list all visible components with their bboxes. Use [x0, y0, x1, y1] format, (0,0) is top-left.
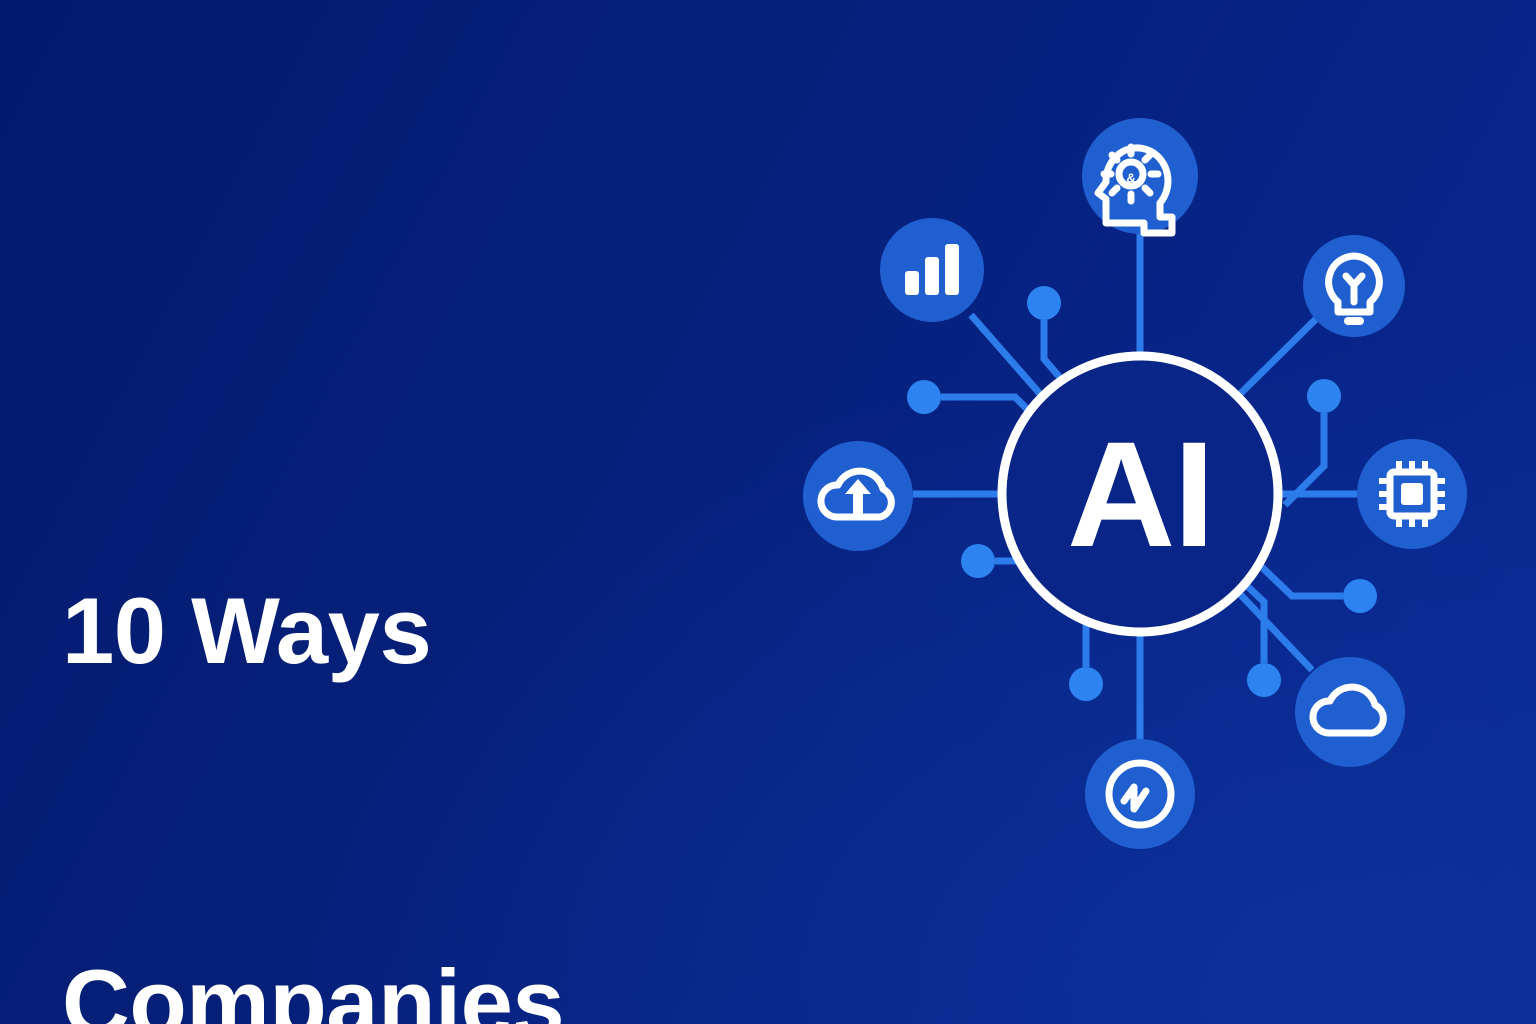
node-bar-chart[interactable]	[880, 218, 984, 322]
connector-dot	[1343, 579, 1377, 613]
ai-hero-banner: 10 Ways Companies Reinventing Themselves…	[0, 0, 1536, 1024]
node-cpu-chip[interactable]	[1357, 439, 1467, 549]
headline-line-2: Companies	[62, 941, 1022, 1024]
node-brain-gear[interactable]: &	[1082, 118, 1198, 234]
headline-line-1: 10 Ways	[62, 569, 1022, 693]
connector-dot	[1069, 667, 1103, 701]
svg-text:&: &	[1126, 170, 1135, 185]
ai-core-label: AI	[1067, 410, 1213, 578]
connector-dot	[1307, 379, 1341, 413]
node-pulse[interactable]	[1085, 739, 1195, 849]
node-lightbulb[interactable]	[1303, 235, 1405, 337]
connector-dot	[1247, 663, 1281, 697]
node-cloud[interactable]	[1295, 657, 1405, 767]
ai-core[interactable]: AI	[1002, 356, 1278, 632]
connector-dot	[1027, 286, 1061, 320]
cpu-chip-icon	[1379, 461, 1445, 527]
page-title: 10 Ways Companies Reinventing Themselves…	[62, 321, 1022, 1024]
